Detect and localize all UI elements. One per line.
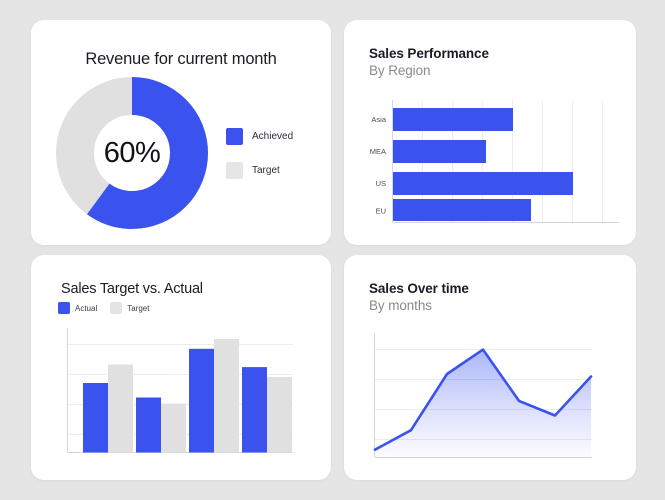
legend-label-achieved: Achieved (252, 131, 293, 142)
axis-label-eu: EU (376, 207, 386, 216)
card-revenue: Revenue for current month 60% Achieved (31, 20, 331, 245)
axis-label-mea: MEA (370, 147, 386, 156)
revenue-legend: Achieved Target (226, 128, 293, 179)
donut-chart-row: 60% Achieved Target (31, 77, 331, 229)
subtitle-sales-over-time: By months (369, 298, 636, 313)
column-target-1 (108, 365, 133, 453)
legend-label-target-column: Target (127, 304, 149, 313)
area-fill (375, 350, 591, 457)
page-title-sales-performance: Sales Performance (369, 46, 636, 61)
legend-swatch-target (226, 162, 243, 179)
card-sales-performance: Sales Performance By Region (344, 20, 636, 245)
legend-item-achieved: Achieved (226, 128, 293, 145)
page-title-sales-over-time: Sales Over time (369, 281, 636, 296)
axis-label-us: US (376, 179, 386, 188)
legend-item-actual: Actual (58, 302, 97, 314)
column-target-3 (214, 339, 239, 453)
sales-over-time-chart (344, 327, 636, 469)
column-actual-3 (189, 349, 214, 453)
sales-over-time-heading: Sales Over time By months (344, 255, 636, 313)
legend-item-target-column: Target (110, 302, 149, 314)
bar-asia (393, 108, 513, 131)
column-target-4 (267, 377, 292, 453)
column-actual-2 (136, 398, 161, 453)
donut-center-value: 60% (56, 77, 208, 229)
legend-swatch-actual (58, 302, 70, 314)
column-actual-1 (83, 383, 108, 453)
card-sales-over-time: Sales Over time By months (344, 255, 636, 480)
page-title-target-vs-actual: Sales Target vs. Actual (61, 281, 331, 297)
card-target-vs-actual: Sales Target vs. Actual Actual Target (31, 255, 331, 480)
column-actual-4 (242, 367, 267, 452)
page-title-revenue: Revenue for current month (31, 20, 331, 69)
dashboard: Revenue for current month 60% Achieved (0, 0, 665, 500)
legend-label-target: Target (252, 165, 280, 176)
revenue-donut-chart: 60% (56, 77, 208, 229)
legend-swatch-target-column (110, 302, 122, 314)
target-actual-legend: Actual Target (31, 297, 331, 314)
bar-us (393, 172, 573, 195)
legend-label-actual: Actual (75, 304, 97, 313)
target-actual-heading: Sales Target vs. Actual (31, 255, 331, 297)
target-actual-chart (31, 322, 331, 464)
subtitle-sales-performance: By Region (369, 63, 636, 78)
bar-mea (393, 140, 486, 163)
axis-label-asia: Asia (371, 115, 386, 124)
sales-performance-heading: Sales Performance By Region (344, 20, 636, 78)
bar-eu (393, 199, 531, 221)
sales-performance-chart: Asia MEA US EU (344, 92, 636, 237)
column-target-2 (161, 404, 186, 453)
legend-swatch-achieved (226, 128, 243, 145)
legend-item-target: Target (226, 162, 293, 179)
